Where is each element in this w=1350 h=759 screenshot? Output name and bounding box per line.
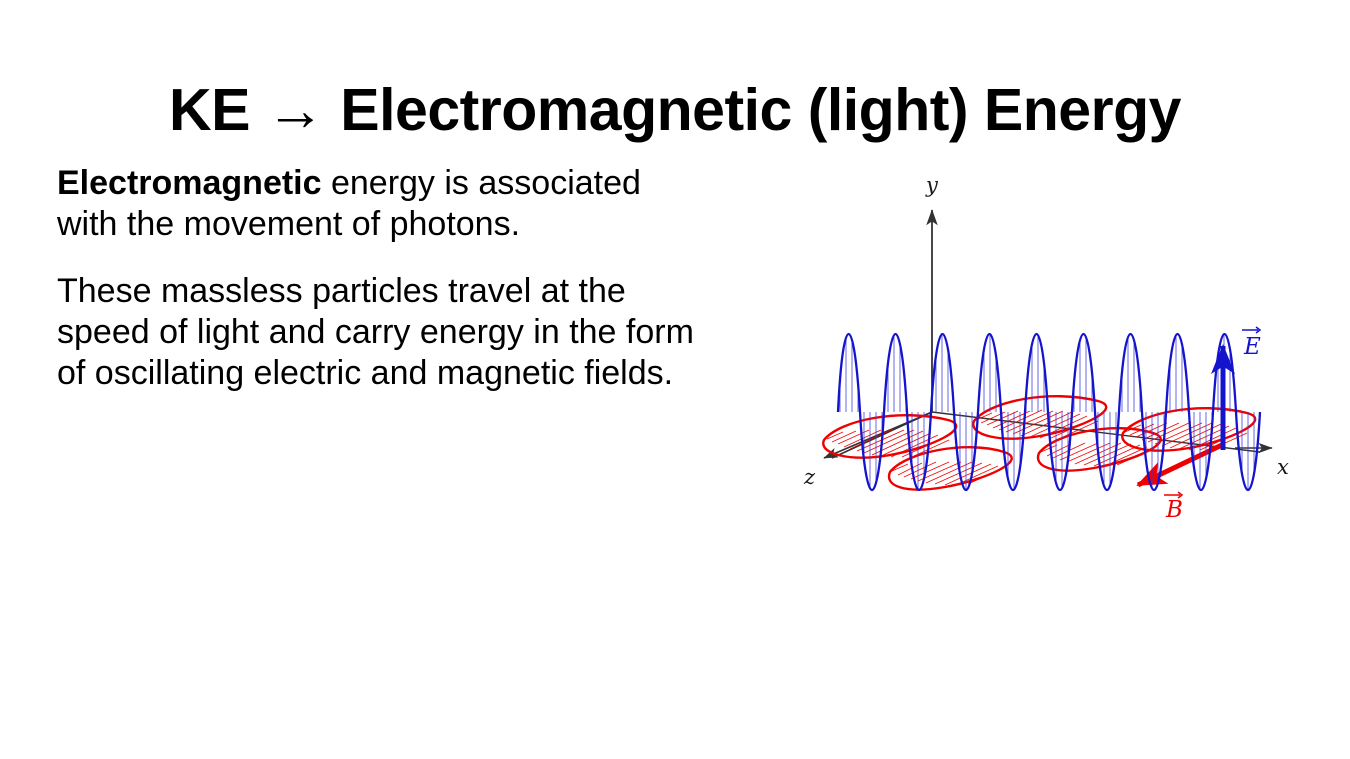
paragraph-1-bold-lead: Electromagnetic xyxy=(57,164,322,202)
page-title: KE → Electromagnetic (light) Energy xyxy=(0,80,1350,142)
magnetic-field-wave: B xyxy=(823,396,1255,523)
e-field-vector-label: E xyxy=(1243,334,1261,360)
z-axis-label: z xyxy=(803,465,816,489)
paragraph-massless-particles: These massless particles travel at the s… xyxy=(57,271,702,394)
paragraph-electromagnetic-energy: Electromagnetic energy is associated wit… xyxy=(57,163,702,245)
b-field-vector-label: B xyxy=(1165,497,1183,523)
slide-canvas: KE → Electromagnetic (light) Energy Elec… xyxy=(0,0,1350,759)
e-field-vector-arrow-accent xyxy=(1242,327,1260,333)
y-axis-label: y xyxy=(925,173,939,197)
x-axis-label: x xyxy=(1277,455,1289,479)
electromagnetic-wave-diagram: y x z xyxy=(780,158,1310,598)
body-text-block: Electromagnetic energy is associated wit… xyxy=(57,163,702,394)
